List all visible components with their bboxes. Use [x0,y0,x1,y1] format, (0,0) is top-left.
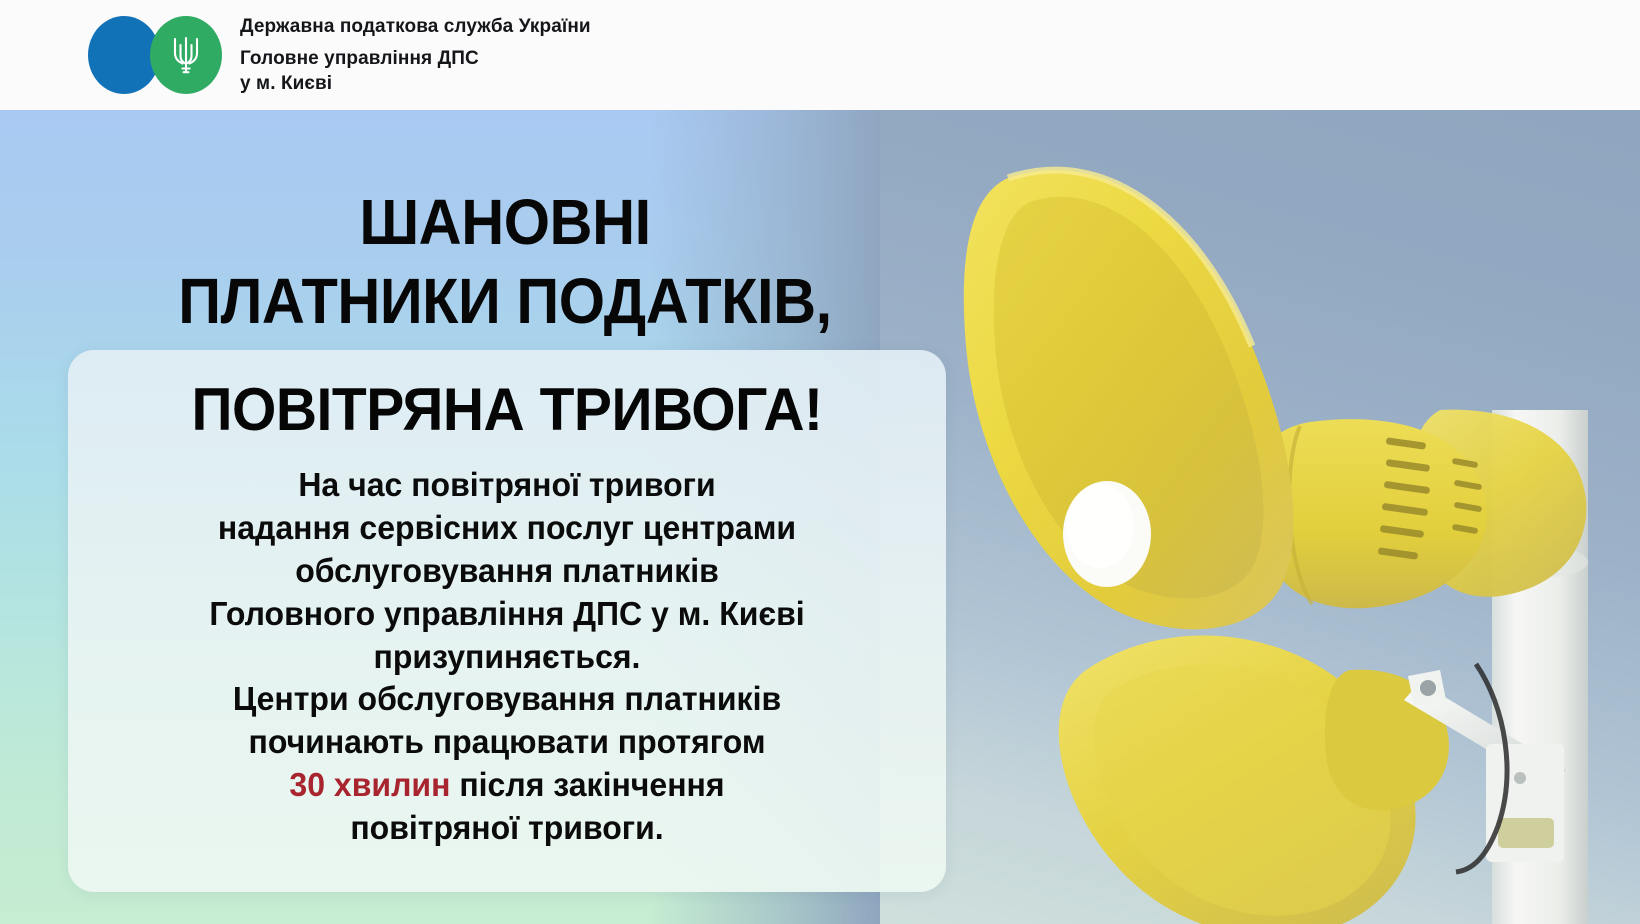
headline-line-2: ПЛАТНИКИ ПОДАТКІВ, [35,267,974,336]
organization-titles: Державна податкова служба України Головн… [240,14,591,96]
duration-suffix: після закінчення [450,766,724,803]
org-name-line-3: у м. Києві [240,71,591,96]
header-inner: Державна податкова служба України Головн… [0,14,591,96]
siren-illustration [880,110,1640,924]
body-line-highlight: 30 хвилин після закінчення [81,764,933,807]
logo-green-circle-icon [150,16,222,94]
announcement-card: ПОВІТРЯНА ТРИВОГА! На час повітряної три… [68,350,946,892]
announcement-body: На час повітряної тривоги надання сервіс… [81,464,933,850]
body-line-3: обслуговування платників [81,550,933,593]
poster-stage: ШАНОВНІ ПЛАТНИКИ ПОДАТКІВ, ПОВІТРЯНА ТРИ… [0,110,1640,924]
organization-logo [88,16,222,94]
body-line-7: починають працювати протягом [81,721,933,764]
body-line-1: На час повітряної тривоги [81,464,933,507]
body-line-6: Центри обслуговування платників [81,678,933,721]
body-line-2: надання сервісних послуг центрами [81,507,933,550]
body-line-final: повітряної тривоги. [81,807,933,850]
headline-line-1: ШАНОВНІ [35,188,974,257]
duration-highlight: 30 хвилин [289,766,450,803]
alarm-title: ПОВІТРЯНА ТРИВОГА! [90,380,924,440]
site-header: Державна податкова служба України Головн… [0,0,1640,110]
poster-page: Державна податкова служба України Головн… [0,0,1640,924]
yellow-siren-horn-icon [880,110,1640,924]
page-title: ШАНОВНІ ПЛАТНИКИ ПОДАТКІВ, [35,188,974,336]
org-name-line-2: Головне управління ДПС [240,46,591,71]
body-line-4: Головного управління ДПС у м. Києві [81,593,933,636]
org-name-line-1: Державна податкова служба України [240,14,591,39]
body-line-5: призупиняється. [81,636,933,679]
ukraine-trident-icon [171,32,201,78]
